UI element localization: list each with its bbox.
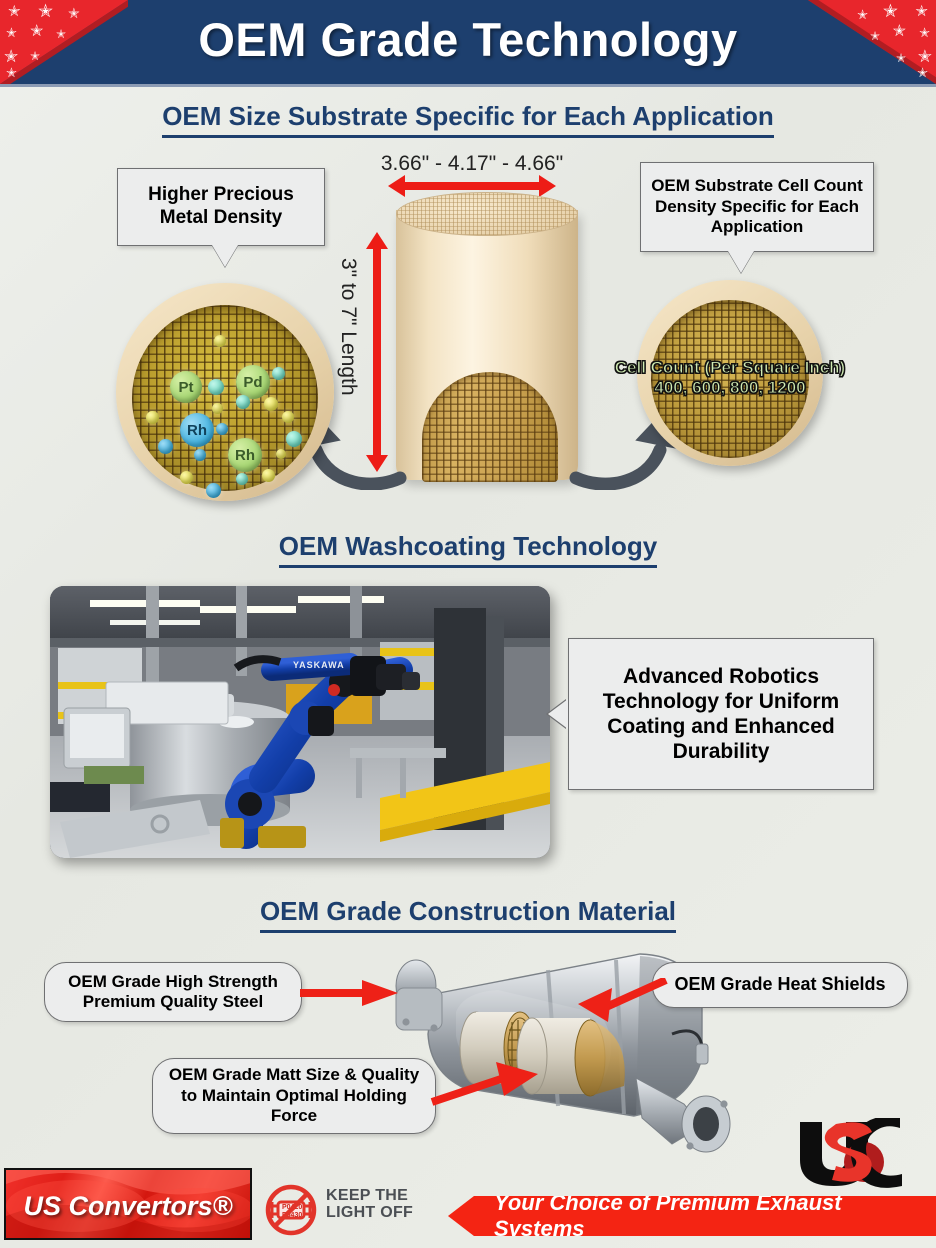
brand-name: US Convertors® bbox=[6, 1191, 250, 1222]
diameter-arrow bbox=[404, 182, 540, 190]
section-1-heading-text: OEM Size Substrate Specific for Each App… bbox=[162, 101, 774, 138]
metal-symbol: Rh bbox=[235, 448, 255, 463]
section-1-heading: OEM Size Substrate Specific for Each App… bbox=[0, 101, 936, 138]
callout-heat-shields: OEM Grade Heat Shields bbox=[652, 962, 908, 1008]
cell-count-title: Cell Count (Per Square Inch) bbox=[580, 358, 880, 378]
metal-particle bbox=[194, 449, 206, 461]
callout-heat-shields-text: OEM Grade Heat Shields bbox=[674, 974, 885, 996]
arrow-to-heat-shields bbox=[578, 978, 668, 1022]
diameter-label: 3.66" - 4.17" - 4.66" bbox=[366, 152, 578, 176]
metal-particle bbox=[216, 423, 228, 435]
no-check-engine-light-icon: P0420 P0430 bbox=[264, 1184, 318, 1236]
metal-particle bbox=[236, 395, 250, 409]
washcoating-robot-photo: YASKAWA bbox=[50, 586, 550, 858]
page-title: OEM Grade Technology bbox=[0, 0, 936, 84]
keep-light-line-2: LIGHT OFF bbox=[326, 1205, 413, 1222]
metal-particle bbox=[214, 335, 226, 347]
callout-cell-count-density-text: OEM Substrate Cell Count Density Specifi… bbox=[649, 176, 865, 237]
cell-count-values: 400, 600, 800, 1200 bbox=[580, 378, 880, 398]
metal-particle bbox=[146, 411, 159, 424]
cylinder-top-face bbox=[396, 192, 578, 236]
callout-tail-robotics bbox=[548, 699, 568, 729]
metal-label-pt: Pt bbox=[170, 371, 202, 403]
keep-light-off-label: KEEP THE LIGHT OFF bbox=[326, 1188, 413, 1222]
callout-tail-left bbox=[212, 245, 238, 267]
metal-particle bbox=[276, 449, 286, 459]
robot-cell-illustration: YASKAWA bbox=[50, 586, 550, 858]
substrate-cylinder bbox=[396, 192, 578, 482]
brand-logo-box: US Convertors® bbox=[4, 1168, 252, 1240]
metal-particle bbox=[158, 439, 173, 454]
precious-metal-disc: Pt Pd Rh Rh bbox=[116, 283, 334, 501]
metal-symbol: Rh bbox=[187, 423, 207, 438]
metal-label-pd: Pd bbox=[236, 365, 270, 399]
metal-particle bbox=[236, 473, 248, 485]
arrow-to-steel bbox=[300, 978, 400, 1008]
section-3-heading: OEM Grade Construction Material bbox=[0, 896, 936, 933]
usc-logo-mark bbox=[796, 1118, 920, 1188]
section-3-heading-text: OEM Grade Construction Material bbox=[260, 896, 676, 933]
callout-matt-size: OEM Grade Matt Size & Quality to Maintai… bbox=[152, 1058, 436, 1134]
metal-particle bbox=[262, 469, 275, 482]
metal-symbol: Pd bbox=[243, 375, 262, 390]
metal-label-rh-green: Rh bbox=[228, 438, 262, 472]
metal-label-rh-blue: Rh bbox=[180, 413, 214, 447]
callout-advanced-robotics-text: Advanced Robotics Technology for Uniform… bbox=[577, 664, 865, 765]
tagline-banner: Your Choice of Premium Exhaust Systems bbox=[448, 1196, 936, 1236]
section-2-heading-text: OEM Washcoating Technology bbox=[279, 531, 657, 568]
metal-particle bbox=[264, 397, 278, 411]
callout-cell-count-density: OEM Substrate Cell Count Density Specifi… bbox=[640, 162, 874, 252]
metal-particle bbox=[206, 483, 221, 498]
arrow-to-matt bbox=[430, 1062, 542, 1108]
metal-particle bbox=[208, 379, 224, 395]
metal-symbol: Pt bbox=[179, 380, 194, 395]
metal-particle bbox=[286, 431, 302, 447]
tagline-text: Your Choice of Premium Exhaust Systems bbox=[494, 1190, 936, 1242]
callout-advanced-robotics: Advanced Robotics Technology for Uniform… bbox=[568, 638, 874, 790]
cell-count-label: Cell Count (Per Square Inch) 400, 600, 8… bbox=[580, 358, 880, 397]
callout-premium-steel-text: OEM Grade High Strength Premium Quality … bbox=[53, 972, 293, 1013]
metal-particle bbox=[212, 403, 223, 414]
keep-light-line-1: KEEP THE bbox=[326, 1188, 413, 1205]
callout-matt-size-text: OEM Grade Matt Size & Quality to Maintai… bbox=[161, 1065, 427, 1126]
callout-premium-steel: OEM Grade High Strength Premium Quality … bbox=[44, 962, 302, 1022]
length-label: 3" to 7" Length bbox=[336, 258, 360, 396]
callout-precious-metal-density: Higher Precious Metal Density bbox=[117, 168, 325, 246]
header-divider bbox=[0, 84, 936, 87]
robot-brand-label: YASKAWA bbox=[293, 660, 345, 670]
metal-particle bbox=[272, 367, 285, 380]
metal-particle bbox=[180, 471, 193, 484]
callout-tail-right bbox=[728, 251, 754, 273]
metal-particle bbox=[282, 411, 294, 423]
precious-metal-honeycomb bbox=[132, 305, 318, 491]
callout-precious-metal-density-text: Higher Precious Metal Density bbox=[126, 184, 316, 230]
section-2-heading: OEM Washcoating Technology bbox=[0, 531, 936, 568]
page-header: ✭ ✭ ✭ ✭ ✭ ✭ ✭ ✭ ✭ OEM Grade Technology ✭… bbox=[0, 0, 936, 84]
infographic-page: ✭ ✭ ✭ ✭ ✭ ✭ ✭ ✭ ✭ OEM Grade Technology ✭… bbox=[0, 0, 936, 1248]
